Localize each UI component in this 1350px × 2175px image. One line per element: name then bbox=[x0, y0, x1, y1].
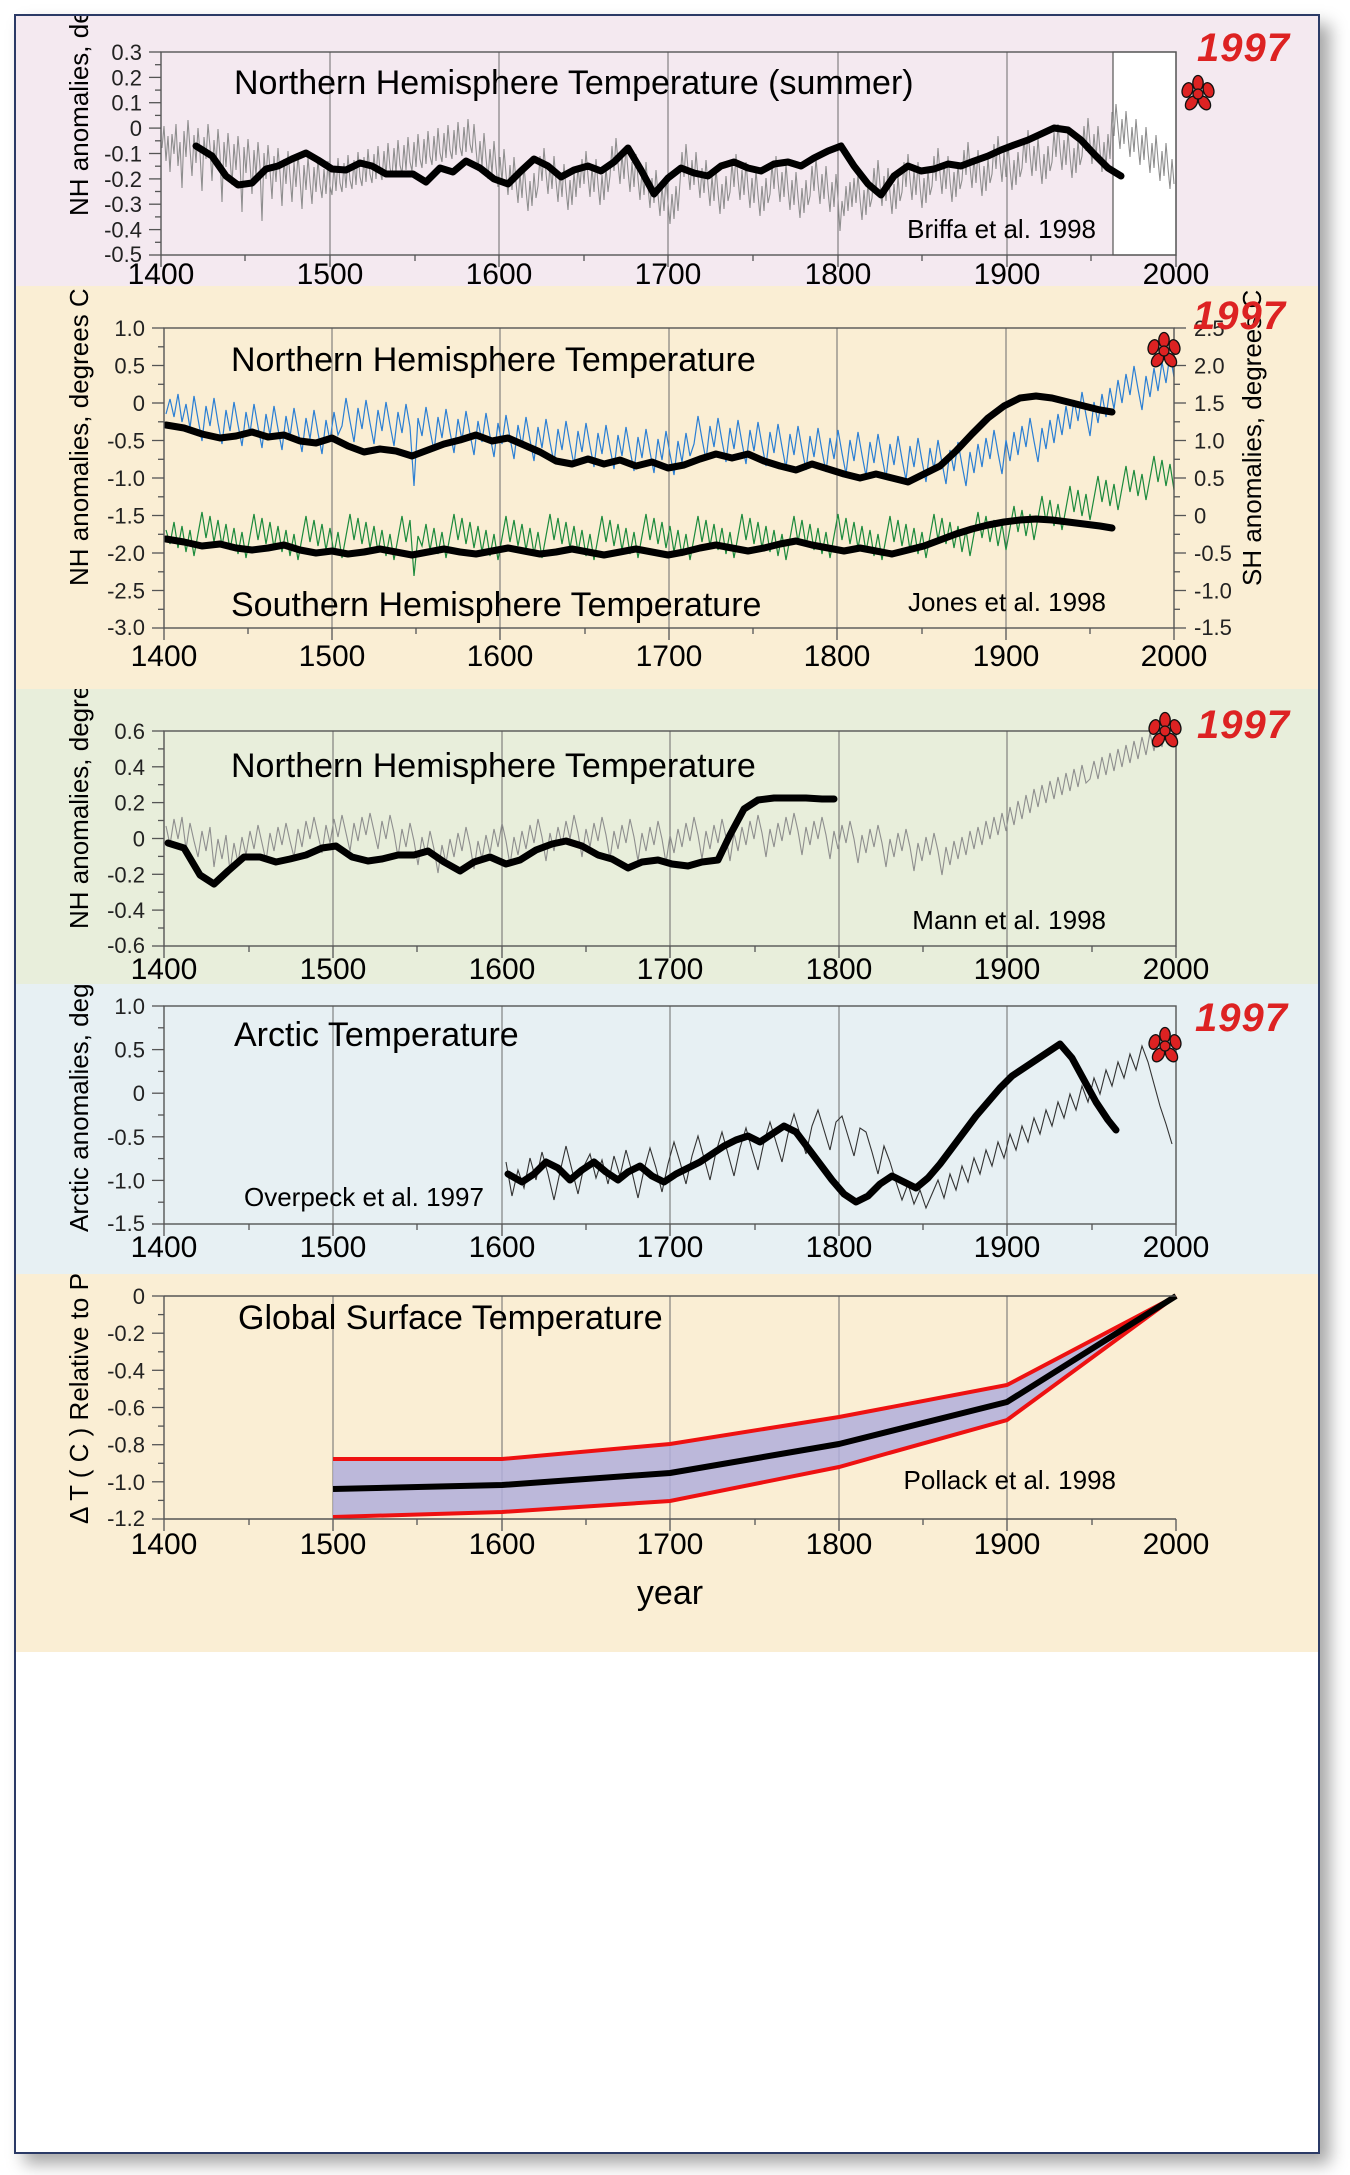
svg-text:-1.0: -1.0 bbox=[107, 1168, 145, 1193]
mann-y-axis bbox=[152, 731, 164, 946]
svg-text:0: 0 bbox=[130, 116, 142, 141]
xtick: 2000 bbox=[1143, 1231, 1210, 1264]
mann-title: Northern Hemisphere Temperature bbox=[231, 747, 756, 785]
svg-text:0: 0 bbox=[133, 1284, 145, 1309]
jones-y-axis-right bbox=[1174, 328, 1186, 628]
svg-text:-0.2: -0.2 bbox=[107, 862, 145, 887]
xtick: 1500 bbox=[300, 1231, 367, 1264]
svg-text:0: 0 bbox=[133, 827, 145, 852]
panel-mann: 1997 0.6 bbox=[16, 689, 1318, 984]
panel-jones: 1997 bbox=[16, 286, 1318, 689]
svg-text:-0.1: -0.1 bbox=[104, 142, 142, 167]
svg-text:-0.4: -0.4 bbox=[107, 1358, 145, 1383]
mann-citation: Mann et al. 1998 bbox=[912, 905, 1106, 935]
xtick: 1800 bbox=[806, 953, 873, 984]
svg-text:-1.0: -1.0 bbox=[107, 466, 145, 491]
svg-text:-3.0: -3.0 bbox=[107, 615, 145, 640]
year-marker-1997-briffa: 1997 bbox=[1197, 26, 1290, 71]
xtick: 2000 bbox=[1143, 953, 1210, 984]
svg-text:0.2: 0.2 bbox=[111, 65, 142, 90]
svg-text:2.0: 2.0 bbox=[1194, 354, 1225, 379]
xtick: 2000 bbox=[1143, 1528, 1210, 1561]
xtick: 1700 bbox=[637, 953, 704, 984]
overpeck-ylabel: Arctic anomalies, degrees C bbox=[64, 984, 94, 1232]
svg-text:0: 0 bbox=[1194, 504, 1206, 529]
svg-text:-0.2: -0.2 bbox=[104, 167, 142, 192]
pollack-y-axis bbox=[152, 1296, 164, 1519]
asterisk-flower-icon bbox=[1178, 74, 1218, 114]
climate-reconstruction-figure: 1997 bbox=[14, 14, 1320, 2154]
overpeck-title: Arctic Temperature bbox=[234, 1016, 519, 1054]
svg-text:-1.0: -1.0 bbox=[1194, 579, 1232, 604]
svg-text:0.6: 0.6 bbox=[114, 719, 145, 744]
svg-text:1.0: 1.0 bbox=[114, 994, 145, 1019]
xtick: 1800 bbox=[805, 258, 872, 286]
jones-ylabel-left: NH anomalies, degrees C bbox=[64, 288, 94, 586]
panel-briffa: 1997 bbox=[16, 16, 1318, 286]
xtick: 1500 bbox=[300, 953, 367, 984]
xtick: 2000 bbox=[1143, 258, 1210, 286]
svg-text:0.5: 0.5 bbox=[114, 354, 145, 379]
xtick: 2000 bbox=[1141, 640, 1208, 673]
xtick: 1900 bbox=[973, 640, 1040, 673]
jones-x-axis bbox=[164, 628, 1174, 640]
xtick: 1700 bbox=[635, 258, 702, 286]
xtick: 1900 bbox=[974, 1231, 1041, 1264]
briffa-plot: 0.3 0.2 0.1 0 -0.1 -0.2 -0.3 -0.4 -0.5 bbox=[16, 16, 1318, 286]
mann-plot: 0.6 0.4 0.2 0 -0.2 -0.4 -0.6 1400 1500 1… bbox=[16, 689, 1318, 984]
overpeck-citation: Overpeck et al. 1997 bbox=[244, 1182, 484, 1212]
asterisk-flower-icon bbox=[1144, 331, 1184, 371]
svg-text:0.5: 0.5 bbox=[114, 1038, 145, 1063]
svg-text:0.4: 0.4 bbox=[114, 755, 145, 780]
xtick: 1800 bbox=[806, 1528, 873, 1561]
svg-text:-0.5: -0.5 bbox=[107, 1125, 145, 1150]
xtick: 1400 bbox=[131, 1231, 198, 1264]
svg-text:-1.5: -1.5 bbox=[1194, 615, 1232, 640]
panel-overpeck: 1997 1.0 bbox=[16, 984, 1318, 1274]
briffa-citation: Briffa et al. 1998 bbox=[907, 214, 1096, 244]
xtick: 1900 bbox=[974, 258, 1041, 286]
jones-sh-smoothed bbox=[166, 519, 1112, 555]
pollack-ylabel: Δ T ( C ) Relative to Present Day bbox=[64, 1274, 94, 1524]
svg-text:-0.5: -0.5 bbox=[1194, 541, 1232, 566]
svg-text:0.1: 0.1 bbox=[111, 91, 142, 116]
svg-text:0.3: 0.3 bbox=[111, 40, 142, 65]
svg-text:-0.3: -0.3 bbox=[104, 192, 142, 217]
jones-title-sh: Southern Hemisphere Temperature bbox=[231, 586, 761, 624]
svg-text:0.2: 0.2 bbox=[114, 791, 145, 816]
mann-smoothed-curve bbox=[168, 798, 834, 884]
svg-text:-0.2: -0.2 bbox=[107, 1321, 145, 1346]
xtick: 1600 bbox=[469, 953, 536, 984]
xtick: 1900 bbox=[974, 1528, 1041, 1561]
svg-text:1.5: 1.5 bbox=[1194, 391, 1225, 416]
briffa-title: Northern Hemisphere Temperature (summer) bbox=[234, 64, 914, 102]
jones-plot: 1.0 0.5 0 -0.5 -1.0 -1.5 -2.0 -2.5 -3.0 … bbox=[16, 286, 1318, 689]
svg-text:1.0: 1.0 bbox=[114, 316, 145, 341]
pollack-title: Global Surface Temperature bbox=[238, 1299, 663, 1337]
svg-text:-1.0: -1.0 bbox=[107, 1470, 145, 1495]
svg-text:-2.0: -2.0 bbox=[107, 541, 145, 566]
xtick: 1500 bbox=[299, 640, 366, 673]
xtick: 1400 bbox=[131, 1528, 198, 1561]
svg-text:-2.5: -2.5 bbox=[107, 579, 145, 604]
svg-text:-0.8: -0.8 bbox=[107, 1433, 145, 1458]
svg-text:-0.6: -0.6 bbox=[107, 1396, 145, 1421]
xtick: 1400 bbox=[131, 953, 198, 984]
svg-text:-1.5: -1.5 bbox=[107, 504, 145, 529]
overpeck-y-axis bbox=[152, 1006, 164, 1224]
xtick: 1400 bbox=[128, 258, 195, 286]
xtick: 1600 bbox=[469, 1231, 536, 1264]
jones-citation: Jones et al. 1998 bbox=[908, 587, 1106, 617]
year-marker-1997-overpeck: 1997 bbox=[1195, 996, 1288, 1041]
jones-title-nh: Northern Hemisphere Temperature bbox=[231, 341, 756, 379]
overpeck-plot: 1.0 0.5 0 -0.5 -1.0 -1.5 1400 1500 1600 … bbox=[16, 984, 1318, 1274]
xtick: 1400 bbox=[131, 640, 198, 673]
x-axis-title: year bbox=[637, 1574, 703, 1612]
xtick: 1700 bbox=[637, 1231, 704, 1264]
xtick: 1700 bbox=[636, 640, 703, 673]
svg-text:0.5: 0.5 bbox=[1194, 466, 1225, 491]
xtick: 1600 bbox=[466, 258, 533, 286]
svg-text:0: 0 bbox=[133, 391, 145, 416]
pollack-citation: Pollack et al. 1998 bbox=[904, 1465, 1116, 1495]
pollack-plot: 0 -0.2 -0.4 -0.6 -0.8 -1.0 -1.2 1400 150… bbox=[16, 1274, 1318, 1652]
svg-text:-0.4: -0.4 bbox=[104, 218, 142, 243]
xtick: 1600 bbox=[469, 1528, 536, 1561]
xtick: 1600 bbox=[467, 640, 534, 673]
asterisk-flower-icon bbox=[1145, 1026, 1185, 1066]
xtick: 1800 bbox=[806, 1231, 873, 1264]
xtick: 1500 bbox=[297, 258, 364, 286]
xtick: 1700 bbox=[637, 1528, 704, 1561]
xtick: 1500 bbox=[300, 1528, 367, 1561]
svg-text:-0.4: -0.4 bbox=[107, 898, 145, 923]
svg-text:0: 0 bbox=[133, 1081, 145, 1106]
asterisk-flower-icon bbox=[1145, 711, 1185, 751]
panel-pollack: 0 -0.2 -0.4 -0.6 -0.8 -1.0 -1.2 1400 150… bbox=[16, 1274, 1318, 1652]
overpeck-smoothed-curve bbox=[508, 1044, 1116, 1202]
xtick: 1800 bbox=[804, 640, 871, 673]
year-marker-1997-mann: 1997 bbox=[1197, 703, 1290, 748]
jones-y-axis-left bbox=[152, 328, 164, 628]
briffa-ylabel: NH anomalies, degrees C bbox=[64, 16, 94, 216]
jones-nh-smoothed bbox=[166, 396, 1112, 482]
xtick: 1900 bbox=[974, 953, 1041, 984]
svg-text:1.0: 1.0 bbox=[1194, 429, 1225, 454]
briffa-y-axis: 0.3 0.2 0.1 0 -0.1 -0.2 -0.3 -0.4 -0.5 bbox=[104, 40, 161, 267]
year-marker-1997-jones: 1997 bbox=[1193, 294, 1286, 339]
svg-text:-0.5: -0.5 bbox=[107, 429, 145, 454]
mann-ylabel: NH anomalies, degrees C bbox=[64, 689, 94, 929]
